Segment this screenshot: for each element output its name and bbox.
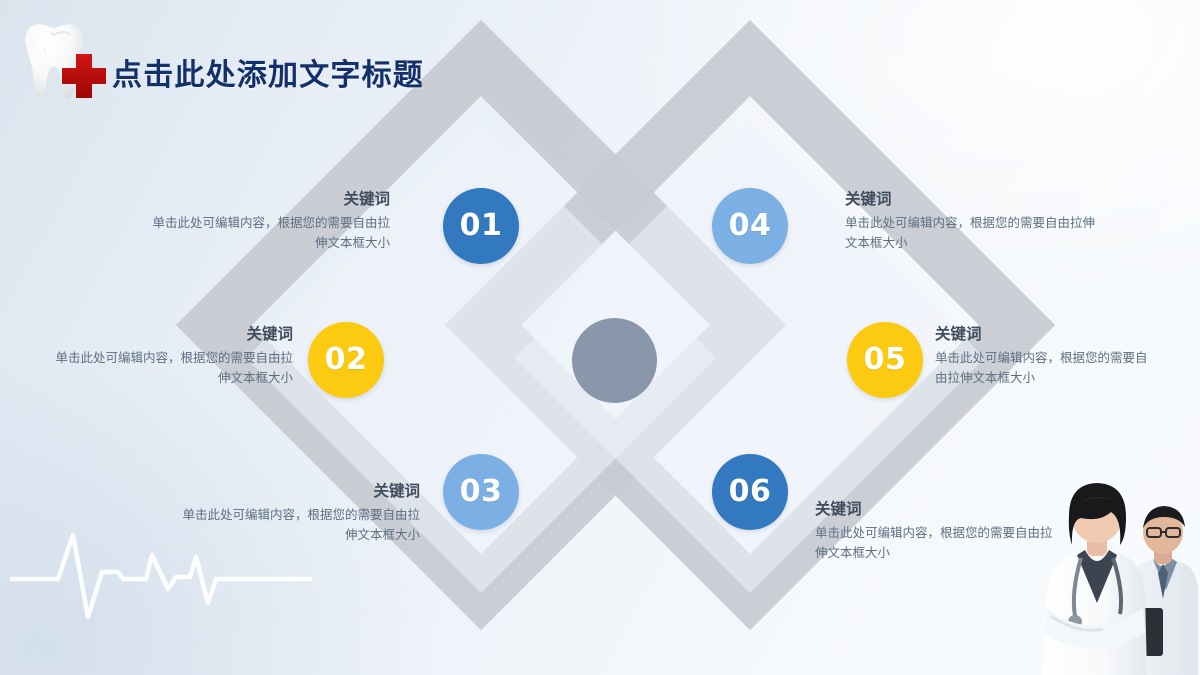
slide-header: 点击此处添加文字标题 xyxy=(0,0,1200,118)
keyword-heading-03: 关键词 xyxy=(175,482,420,501)
node-05-number: 05 xyxy=(864,345,907,375)
text-block-02[interactable]: 关键词 单击此处可编辑内容，根据您的需要自由拉伸文本框大小 xyxy=(48,325,293,387)
node-02-number: 02 xyxy=(325,345,368,375)
node-02[interactable]: 02 xyxy=(308,322,384,398)
text-block-04[interactable]: 关键词 单击此处可编辑内容，根据您的需要自由拉伸文本框大小 xyxy=(845,190,1097,252)
node-03[interactable]: 03 xyxy=(443,454,519,530)
keyword-heading-04: 关键词 xyxy=(845,190,1097,209)
node-01[interactable]: 01 xyxy=(443,188,519,264)
keyword-body-02: 单击此处可编辑内容，根据您的需要自由拉伸文本框大小 xyxy=(48,348,293,387)
page-title: 点击此处添加文字标题 xyxy=(112,50,424,94)
keyword-heading-06: 关键词 xyxy=(815,500,1060,519)
tooth-icon xyxy=(25,24,83,99)
keyword-body-03: 单击此处可编辑内容，根据您的需要自由拉伸文本框大小 xyxy=(175,505,420,544)
text-block-01[interactable]: 关键词 单击此处可编辑内容，根据您的需要自由拉伸文本框大小 xyxy=(145,190,390,252)
text-block-03[interactable]: 关键词 单击此处可编辑内容，根据您的需要自由拉伸文本框大小 xyxy=(175,482,420,544)
keyword-body-04: 单击此处可编辑内容，根据您的需要自由拉伸文本框大小 xyxy=(845,213,1097,252)
node-01-number: 01 xyxy=(460,211,503,241)
node-05[interactable]: 05 xyxy=(847,322,923,398)
keyword-heading-02: 关键词 xyxy=(48,325,293,344)
node-03-number: 03 xyxy=(460,477,503,507)
node-04[interactable]: 04 xyxy=(712,188,788,264)
node-04-number: 04 xyxy=(729,211,772,241)
keyword-heading-01: 关键词 xyxy=(145,190,390,209)
keyword-heading-05: 关键词 xyxy=(935,325,1150,344)
keyword-body-06: 单击此处可编辑内容，根据您的需要自由拉伸文本框大小 xyxy=(815,523,1060,562)
node-06-number: 06 xyxy=(729,477,772,507)
tooth-cross-logo xyxy=(8,10,116,108)
text-block-06[interactable]: 关键词 单击此处可编辑内容，根据您的需要自由拉伸文本框大小 xyxy=(815,500,1060,562)
node-06[interactable]: 06 xyxy=(712,454,788,530)
slide-canvas: 点击此处添加文字标题 01 xyxy=(0,0,1200,675)
keyword-body-01: 单击此处可编辑内容，根据您的需要自由拉伸文本框大小 xyxy=(145,213,390,252)
center-hub-circle xyxy=(572,318,657,403)
keyword-body-05: 单击此处可编辑内容，根据您的需要自由拉伸文本框大小 xyxy=(935,348,1150,387)
text-block-05[interactable]: 关键词 单击此处可编辑内容，根据您的需要自由拉伸文本框大小 xyxy=(935,325,1150,387)
